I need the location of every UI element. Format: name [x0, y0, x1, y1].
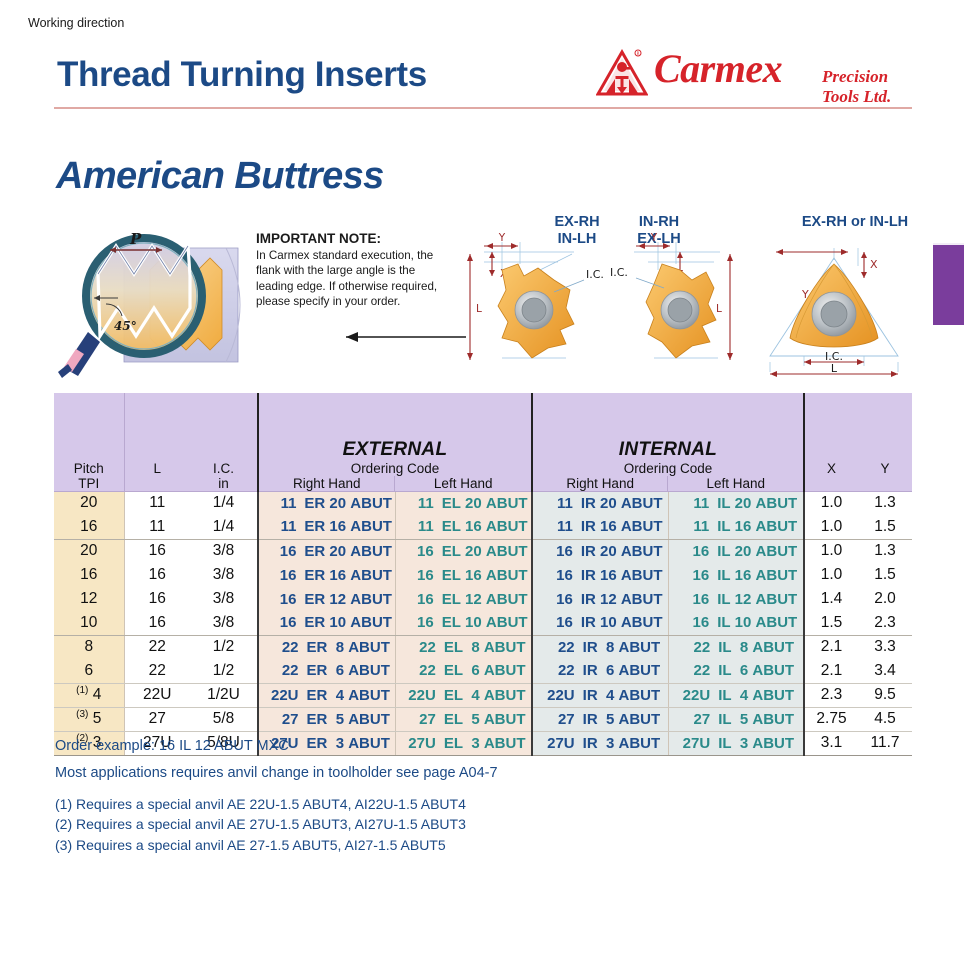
th-internal-label: INTERNAL [533, 439, 803, 461]
table-row: (3) 5275/827ER 5 ABUT27EL 5 ABUT27IR 5 A… [54, 707, 912, 731]
cell-external-left-hand: 22EL 6 ABUT [396, 659, 532, 683]
note-body: In Carmex standard execution, the flank … [256, 248, 446, 310]
cell-y: 11.7 [858, 731, 912, 755]
th-y-label: Y [858, 461, 912, 476]
th-internal-group: INTERNAL Ordering Code Right Hand Left H… [532, 393, 804, 491]
cell-internal-left-hand: 16IL 12 ABUT [669, 587, 804, 611]
cell-pitch: 6 [54, 659, 124, 683]
footnote-marker: (3) [76, 709, 88, 720]
anvil-note: Most applications requires anvil change … [55, 765, 675, 781]
cell-ic: 1/4 [190, 515, 258, 539]
cell-external-left-hand: 16EL 20 ABUT [396, 539, 532, 563]
dim-l-b: L [716, 303, 722, 315]
cell-external-right-hand: 16ER 12 ABUT [258, 587, 396, 611]
cell-external-left-hand: 22EL 8 ABUT [396, 635, 532, 659]
th-l-label: L [125, 461, 191, 476]
table-row: 8221/222ER 8 ABUT22EL 8 ABUT22IR 8 ABUT2… [54, 635, 912, 659]
cell-ic: 1/2U [190, 683, 258, 707]
cell-y: 3.3 [858, 635, 912, 659]
table-row: 16163/816ER 16 ABUT16EL 16 ABUT16IR 16 A… [54, 563, 912, 587]
th-ic: I.C. in [190, 393, 258, 491]
cell-external-left-hand: 27EL 5 ABUT [396, 707, 532, 731]
note-heading: IMPORTANT NOTE: [256, 231, 446, 246]
carmex-triangle-logo-icon: R [596, 49, 648, 97]
dim-l-c: L [831, 362, 838, 375]
cell-external-right-hand: 11ER 20 ABUT [258, 491, 396, 515]
cell-internal-left-hand: 16IL 10 ABUT [669, 611, 804, 635]
cell-internal-right-hand: 22IR 6 ABUT [532, 659, 669, 683]
dim-l-a: L [476, 303, 482, 315]
cell-pitch: 8 [54, 635, 124, 659]
cell-x: 2.75 [804, 707, 858, 731]
table-header-row: Pitch TPI L I.C. in EXTERNAL Ordering Co… [54, 393, 912, 491]
header-divider [54, 107, 912, 109]
cell-internal-right-hand: 16IR 10 ABUT [532, 611, 669, 635]
cell-y: 2.0 [858, 587, 912, 611]
th-x: X [804, 393, 858, 491]
angle-label-45: 45° [114, 319, 137, 333]
th-external-label: EXTERNAL [259, 439, 531, 461]
cell-pitch: (3) 5 [54, 707, 124, 731]
cell-l: 11 [124, 515, 190, 539]
cell-external-left-hand: 16EL 16 ABUT [396, 563, 532, 587]
th-internal-rh: Right Hand [533, 476, 668, 491]
cell-external-right-hand: 16ER 16 ABUT [258, 563, 396, 587]
cell-pitch: 12 [54, 587, 124, 611]
cell-ic: 5/8 [190, 707, 258, 731]
table-row: 10163/816ER 10 ABUT16EL 10 ABUT16IR 10 A… [54, 611, 912, 635]
cell-internal-left-hand: 27IL 5 ABUT [669, 707, 804, 731]
cell-internal-left-hand: 22IL 6 ABUT [669, 659, 804, 683]
cell-ic: 3/8 [190, 539, 258, 563]
page-edge-tab [933, 243, 964, 325]
insert-diagram-c: Y X I.C. L [770, 248, 898, 377]
cell-ic: 3/8 [190, 563, 258, 587]
order-example: Order example: 16 IL 12 ABUT MXC [55, 738, 675, 754]
th-x-label: X [805, 461, 858, 476]
cell-y: 1.3 [858, 491, 912, 515]
working-direction-arrow [340, 327, 480, 367]
cell-x: 1.0 [804, 563, 858, 587]
cell-internal-left-hand: 16IL 16 ABUT [669, 563, 804, 587]
cell-x: 2.1 [804, 659, 858, 683]
cell-external-right-hand: 27ER 5 ABUT [258, 707, 396, 731]
cell-ic: 1/2 [190, 635, 258, 659]
label-in-rh: IN-RH [622, 214, 696, 231]
cell-external-left-hand: 11EL 20 ABUT [396, 491, 532, 515]
thread-profile-magnifier-illustration: P 45° [58, 212, 263, 380]
th-ic-unit: in [190, 476, 257, 491]
cell-l: 16 [124, 611, 190, 635]
cell-internal-left-hand: 11IL 16 ABUT [669, 515, 804, 539]
carmex-logo: R Carmex Precision Tools Ltd. [596, 47, 914, 101]
cell-internal-right-hand: 22UIR 4 ABUT [532, 683, 669, 707]
logo-tagline: Precision Tools Ltd. [822, 67, 914, 107]
insert-group-label-3: EX-RH or IN-LH [780, 214, 930, 231]
cell-external-left-hand: 16EL 12 ABUT [396, 587, 532, 611]
cell-pitch: 10 [54, 611, 124, 635]
table-row: 20163/816ER 20 ABUT16EL 20 ABUT16IR 20 A… [54, 539, 912, 563]
label-ex-rh: EX-RH [540, 214, 614, 231]
cell-ic: 3/8 [190, 611, 258, 635]
cell-x: 1.4 [804, 587, 858, 611]
table-body: 20111/411ER 20 ABUT11EL 20 ABUT11IR 20 A… [54, 491, 912, 755]
th-external-rh: Right Hand [259, 476, 394, 491]
cell-internal-left-hand: 11IL 20 ABUT [669, 491, 804, 515]
cell-l: 22U [124, 683, 190, 707]
footnote-2: (2) Requires a special anvil AE 27U-1.5 … [55, 814, 675, 834]
cell-external-left-hand: 16EL 10 ABUT [396, 611, 532, 635]
section-title: American Buttress [56, 155, 384, 198]
cell-pitch: (1) 4 [54, 683, 124, 707]
footer-notes: Order example: 16 IL 12 ABUT MXC Most ap… [55, 738, 675, 855]
cell-external-right-hand: 16ER 10 ABUT [258, 611, 396, 635]
dim-ic-a: I.C. [586, 268, 604, 281]
table-row: 16111/411ER 16 ABUT11EL 16 ABUT11IR 16 A… [54, 515, 912, 539]
th-internal-lh: Left Hand [667, 476, 803, 491]
th-external-group: EXTERNAL Ordering Code Right Hand Left H… [258, 393, 532, 491]
insert-diagram-a: Y X L I.C. [467, 232, 604, 360]
cell-l: 22 [124, 659, 190, 683]
cell-ic: 1/2 [190, 659, 258, 683]
cell-l: 27 [124, 707, 190, 731]
cell-external-right-hand: 22ER 6 ABUT [258, 659, 396, 683]
cell-l: 22 [124, 635, 190, 659]
cell-y: 9.5 [858, 683, 912, 707]
cell-internal-left-hand: 27UIL 3 ABUT [669, 731, 804, 755]
cell-internal-right-hand: 16IR 16 ABUT [532, 563, 669, 587]
table-head: Pitch TPI L I.C. in EXTERNAL Ordering Co… [54, 393, 912, 491]
cell-l: 16 [124, 587, 190, 611]
label-ex-rh-or-in-lh: EX-RH or IN-LH [780, 214, 930, 231]
cell-y: 1.3 [858, 539, 912, 563]
cell-internal-right-hand: 11IR 20 ABUT [532, 491, 669, 515]
th-pitch-label: Pitch [54, 461, 124, 476]
cell-x: 2.1 [804, 635, 858, 659]
cell-l: 16 [124, 539, 190, 563]
table-row: 12163/816ER 12 ABUT16EL 12 ABUT16IR 12 A… [54, 587, 912, 611]
cell-y: 1.5 [858, 563, 912, 587]
cell-y: 3.4 [858, 659, 912, 683]
cell-external-right-hand: 16ER 20 ABUT [258, 539, 396, 563]
cell-internal-left-hand: 22UIL 4 ABUT [669, 683, 804, 707]
cell-internal-right-hand: 22IR 8 ABUT [532, 635, 669, 659]
cell-internal-left-hand: 22IL 8 ABUT [669, 635, 804, 659]
cell-external-right-hand: 22UER 4 ABUT [258, 683, 396, 707]
table-row: 6221/222ER 6 ABUT22EL 6 ABUT22IR 6 ABUT2… [54, 659, 912, 683]
footnote-1: (1) Requires a special anvil AE 22U-1.5 … [55, 794, 675, 814]
dim-ic-b: I.C. [610, 266, 628, 279]
cell-y: 4.5 [858, 707, 912, 731]
cell-external-left-hand: 11EL 16 ABUT [396, 515, 532, 539]
logo-wordmark: Carmex [654, 45, 782, 92]
page-title: Thread Turning Inserts [57, 55, 427, 95]
cell-internal-right-hand: 27IR 5 ABUT [532, 707, 669, 731]
svg-text:R: R [637, 51, 640, 56]
cell-x: 1.5 [804, 611, 858, 635]
cell-x: 1.0 [804, 491, 858, 515]
cell-external-left-hand: 22UEL 4 ABUT [396, 683, 532, 707]
cell-internal-right-hand: 16IR 20 ABUT [532, 539, 669, 563]
dim-x-c: X [870, 258, 878, 271]
table-row: 20111/411ER 20 ABUT11EL 20 ABUT11IR 20 A… [54, 491, 912, 515]
th-ic-label: I.C. [190, 461, 257, 476]
cell-ic: 1/4 [190, 491, 258, 515]
th-l: L [124, 393, 190, 491]
cell-pitch: 20 [54, 539, 124, 563]
cell-pitch: 16 [54, 515, 124, 539]
th-external-lh: Left Hand [394, 476, 530, 491]
cell-x: 1.0 [804, 515, 858, 539]
th-pitch: Pitch TPI [54, 393, 124, 491]
cell-external-right-hand: 22ER 8 ABUT [258, 635, 396, 659]
important-note: IMPORTANT NOTE: In Carmex standard execu… [256, 231, 446, 310]
th-y: Y [858, 393, 912, 491]
insert-ordering-table: Pitch TPI L I.C. in EXTERNAL Ordering Co… [54, 393, 912, 756]
insert-diagram-b: Y X L I.C. [610, 232, 733, 360]
pitch-label-P: P [129, 230, 142, 248]
cell-x: 3.1 [804, 731, 858, 755]
page-root: Thread Turning Inserts R Carmex Precisio… [0, 0, 964, 964]
footnote-marker: (1) [76, 685, 88, 696]
cell-y: 2.3 [858, 611, 912, 635]
cell-ic: 3/8 [190, 587, 258, 611]
dim-y-a: Y [498, 232, 506, 244]
insert-dimension-diagrams: Y X L I.C. [462, 230, 922, 378]
th-external-ordering: Ordering Code [259, 461, 531, 476]
cell-l: 16 [124, 563, 190, 587]
cell-internal-right-hand: 16IR 12 ABUT [532, 587, 669, 611]
cell-y: 1.5 [858, 515, 912, 539]
cell-pitch: 16 [54, 563, 124, 587]
cell-external-right-hand: 11ER 16 ABUT [258, 515, 396, 539]
th-pitch-unit: TPI [54, 476, 124, 491]
footnote-3: (3) Requires a special anvil AE 27-1.5 A… [55, 835, 675, 855]
cell-x: 1.0 [804, 539, 858, 563]
cell-internal-right-hand: 11IR 16 ABUT [532, 515, 669, 539]
cell-internal-left-hand: 16IL 20 ABUT [669, 539, 804, 563]
cell-l: 11 [124, 491, 190, 515]
cell-pitch: 20 [54, 491, 124, 515]
cell-x: 2.3 [804, 683, 858, 707]
table-row: (1) 422U1/2U22UER 4 ABUT22UEL 4 ABUT22UI… [54, 683, 912, 707]
working-direction-label: Working direction [28, 16, 124, 30]
th-internal-ordering: Ordering Code [533, 461, 803, 476]
dim-y-b: Y [650, 232, 658, 244]
